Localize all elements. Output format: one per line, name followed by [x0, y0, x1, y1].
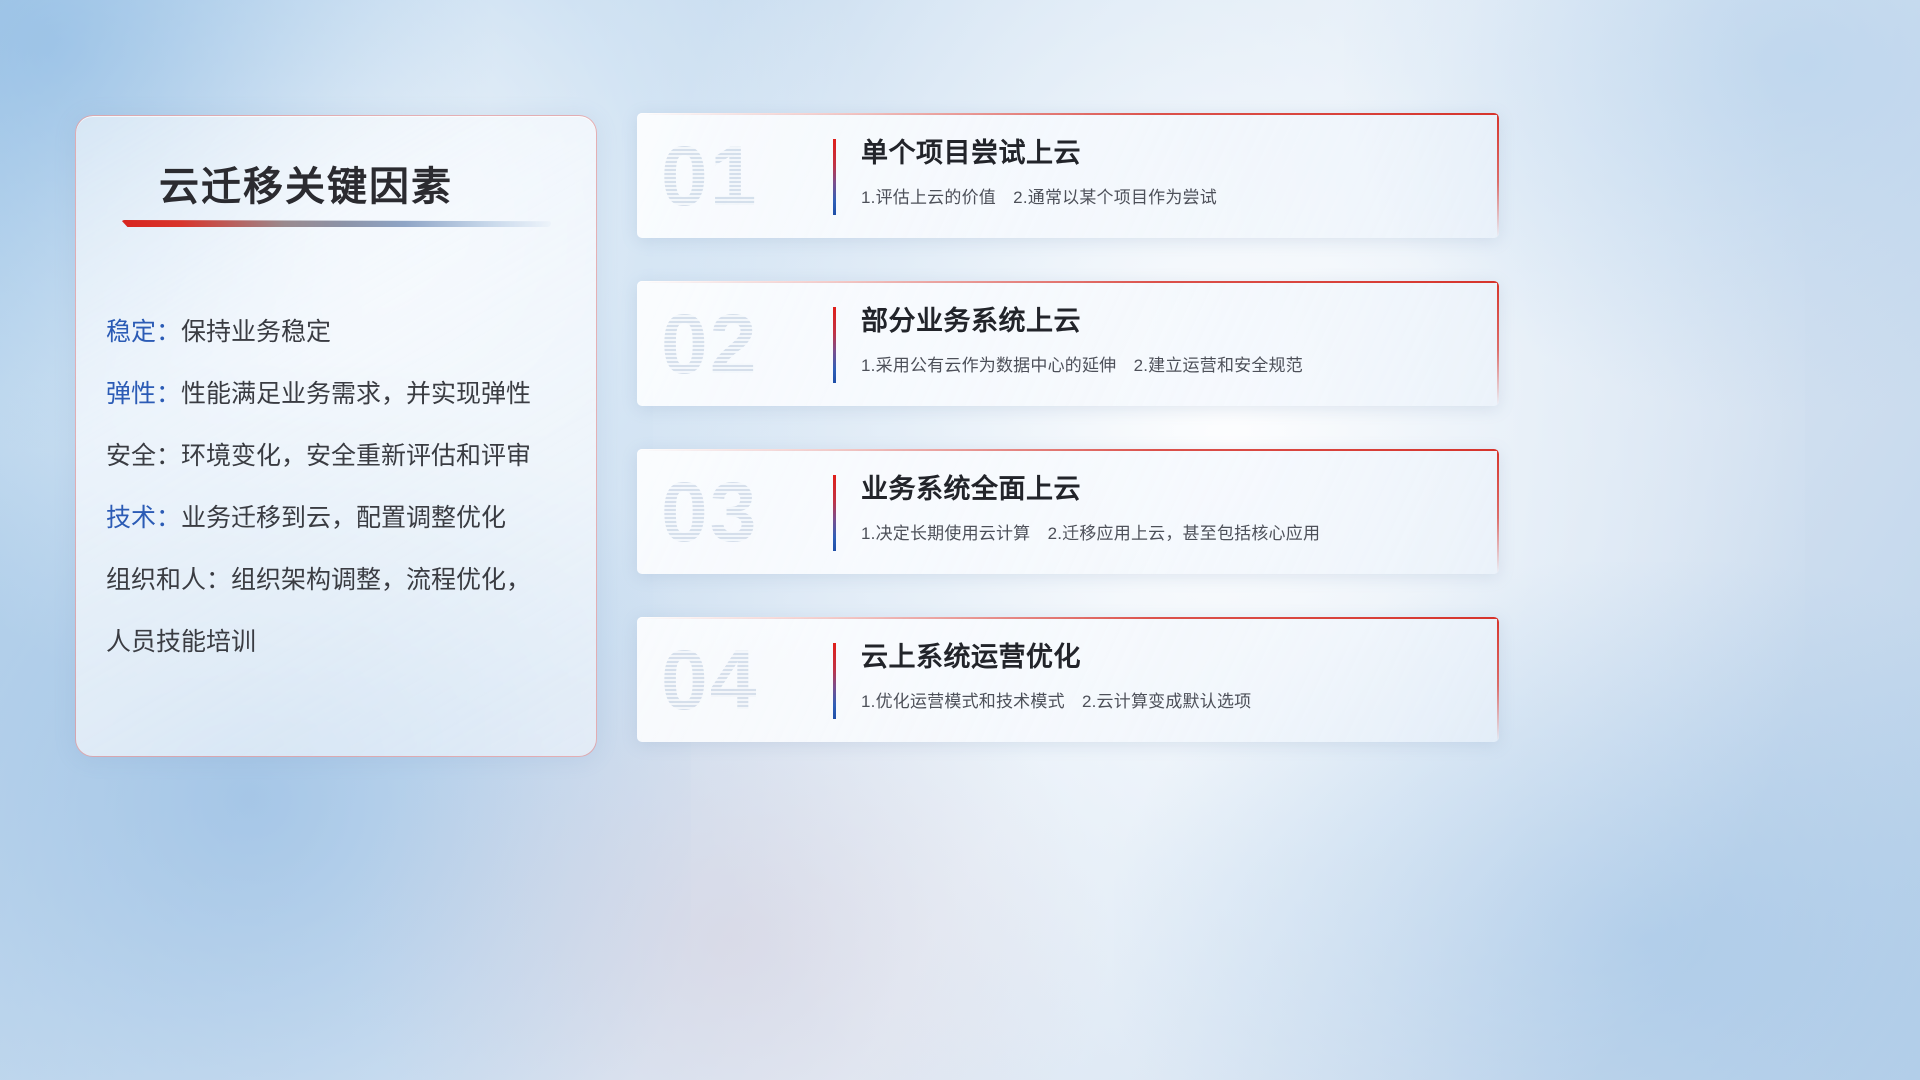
stage-number: 03: [661, 465, 811, 560]
factor-text: 业务迁移到云，配置调整优化: [181, 504, 506, 532]
card-body: 部分业务系统上云1.采用公有云作为数据中心的延伸 2.建立运营和安全规范: [861, 299, 1481, 376]
card-divider-bar: [833, 475, 836, 551]
factor-text: 环境变化，安全重新评估和评审: [181, 442, 531, 470]
card-body: 业务系统全面上云1.决定长期使用云计算 2.迁移应用上云，甚至包括核心应用: [861, 467, 1481, 544]
factor-text: 组织架构调整，流程优化，: [231, 566, 531, 594]
stage-title: 单个项目尝试上云: [861, 131, 1481, 170]
stage-card-list: 01单个项目尝试上云1.评估上云的价值 2.通常以某个项目作为尝试02部分业务系…: [637, 113, 1499, 785]
stage-title: 部分业务系统上云: [861, 299, 1481, 338]
card-right-accent: [1497, 113, 1499, 238]
card-body: 云上系统运营优化1.优化运营模式和技术模式 2.云计算变成默认选项: [861, 635, 1481, 712]
factor-row: 人员技能培训: [106, 611, 572, 673]
stage-number: 04: [661, 633, 811, 728]
stage-number: 01: [661, 129, 811, 224]
stage-card[interactable]: 03业务系统全面上云1.决定长期使用云计算 2.迁移应用上云，甚至包括核心应用: [637, 449, 1499, 574]
title-underline-accent: [121, 220, 551, 227]
factor-row: 安全：环境变化，安全重新评估和评审: [106, 425, 572, 487]
panel-title: 云迁移关键因素: [159, 154, 453, 212]
factor-text: 保持业务稳定: [181, 318, 331, 346]
stage-card[interactable]: 01单个项目尝试上云1.评估上云的价值 2.通常以某个项目作为尝试: [637, 113, 1499, 238]
factor-label: 组织和人：: [106, 566, 231, 594]
stage-card[interactable]: 02部分业务系统上云1.采用公有云作为数据中心的延伸 2.建立运营和安全规范: [637, 281, 1499, 406]
stage-subtitle: 1.优化运营模式和技术模式 2.云计算变成默认选项: [861, 687, 1481, 712]
factor-label: 安全：: [106, 442, 181, 470]
factor-row: 技术：业务迁移到云，配置调整优化: [106, 487, 572, 549]
card-top-accent: [637, 281, 1499, 283]
card-divider-bar: [833, 139, 836, 215]
factor-row: 稳定：保持业务稳定: [106, 301, 572, 363]
stage-title: 业务系统全面上云: [861, 467, 1481, 506]
card-right-accent: [1497, 617, 1499, 742]
card-body: 单个项目尝试上云1.评估上云的价值 2.通常以某个项目作为尝试: [861, 131, 1481, 208]
card-right-accent: [1497, 281, 1499, 406]
stage-card[interactable]: 04云上系统运营优化1.优化运营模式和技术模式 2.云计算变成默认选项: [637, 617, 1499, 742]
card-right-accent: [1497, 449, 1499, 574]
factor-list: 稳定：保持业务稳定弹性：性能满足业务需求，并实现弹性安全：环境变化，安全重新评估…: [106, 301, 572, 673]
card-top-accent: [637, 449, 1499, 451]
stage-number: 02: [661, 297, 811, 392]
factor-row: 组织和人：组织架构调整，流程优化，: [106, 549, 572, 611]
factor-label: 技术：: [106, 504, 181, 532]
factor-text: 人员技能培训: [106, 628, 256, 656]
stage-subtitle: 1.采用公有云作为数据中心的延伸 2.建立运营和安全规范: [861, 351, 1481, 376]
card-top-accent: [637, 113, 1499, 115]
key-factors-panel: 云迁移关键因素 稳定：保持业务稳定弹性：性能满足业务需求，并实现弹性安全：环境变…: [75, 115, 597, 757]
stage-title: 云上系统运营优化: [861, 635, 1481, 674]
card-divider-bar: [833, 643, 836, 719]
stage-subtitle: 1.评估上云的价值 2.通常以某个项目作为尝试: [861, 183, 1481, 208]
factor-label: 弹性：: [106, 380, 181, 408]
card-top-accent: [637, 617, 1499, 619]
factor-row: 弹性：性能满足业务需求，并实现弹性: [106, 363, 572, 425]
factor-label: 稳定：: [106, 318, 181, 346]
factor-text: 性能满足业务需求，并实现弹性: [181, 380, 531, 408]
stage-subtitle: 1.决定长期使用云计算 2.迁移应用上云，甚至包括核心应用: [861, 519, 1481, 544]
card-divider-bar: [833, 307, 836, 383]
